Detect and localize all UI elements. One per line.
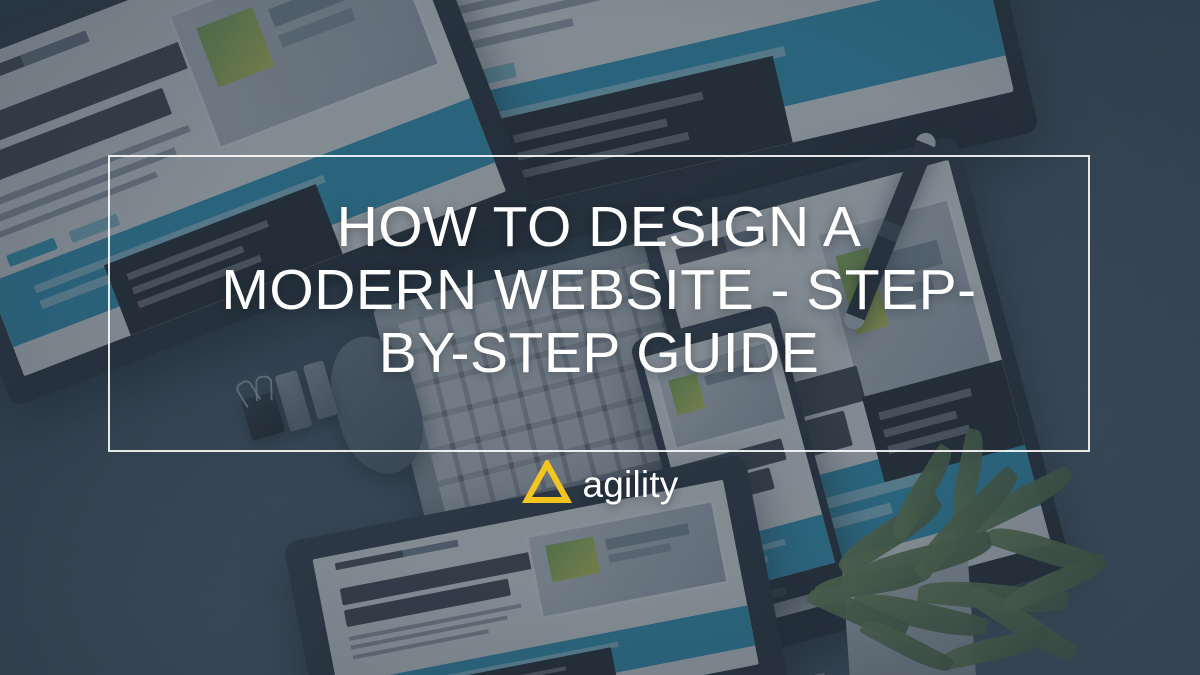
brand-wordmark: agility [583, 466, 679, 503]
brand-logo[interactable]: agility [0, 460, 1200, 509]
blog-hero-banner: HOW TO DESIGN A MODERN WEBSITE - STEP- B… [0, 0, 1200, 675]
agility-triangle-icon [522, 460, 572, 509]
page-title: HOW TO DESIGN A MODERN WEBSITE - STEP- B… [110, 196, 1088, 385]
